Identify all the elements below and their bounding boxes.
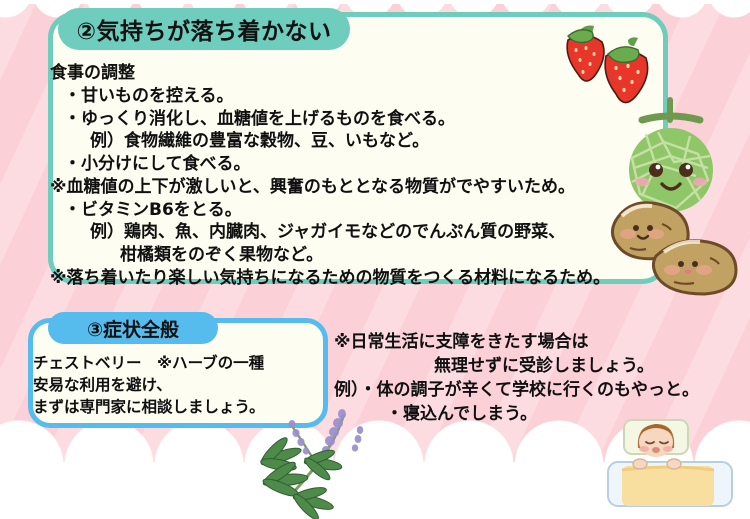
sleeping-person-illustration bbox=[600, 418, 740, 519]
strawberries-illustration bbox=[560, 14, 680, 110]
diet-line-5: ・小分けにして食べる。 bbox=[50, 153, 650, 176]
general-line-1: チェストベリー ※ハーブの一種 bbox=[33, 352, 325, 374]
diet-line-6: ※血糖値の上下が激しいと、興奮のもととなる物質がでやすいため。 bbox=[50, 176, 650, 199]
diet-line-8: 例）鶏肉、魚、内臓肉、ジャガイモなどのでんぷん質の野菜、 bbox=[50, 221, 650, 244]
section-heading-general: ③症状全般 bbox=[48, 312, 218, 344]
diet-line-4: 例）食物繊維の豊富な穀物、豆、いもなど。 bbox=[50, 130, 650, 153]
diet-line-3: ・ゆっくり消化し、血糖値を上げるものを食べる。 bbox=[50, 108, 650, 131]
diet-line-7: ・ビタミンB6をとる。 bbox=[50, 199, 650, 222]
diet-line-10: ※落ち着いたり楽しい気持ちになるための物質をつくる材料になるため。 bbox=[50, 267, 650, 290]
note-line-1: ※日常生活に支障をきたす場合は bbox=[334, 330, 750, 354]
chaste-tree-illustration bbox=[252, 408, 402, 519]
section-heading-diet: ②気持ちが落ち着かない bbox=[58, 8, 350, 50]
note-line-3: 例）・体の調子が辛くて学校に行くのもやっと。 bbox=[334, 378, 750, 402]
diet-line-9: 柑橘類をのぞく果物など。 bbox=[50, 244, 650, 267]
infographic-stage: ②気持ちが落ち着かない 食事の調整 ・甘いものを控える。 ・ゆっくり消化し、血糖… bbox=[0, 0, 750, 519]
scallop-top-fill bbox=[0, 0, 750, 4]
general-line-2: 安易な利用を避け、 bbox=[33, 374, 325, 396]
note-line-2: 無理せずに受診しましょう。 bbox=[334, 354, 750, 378]
potatoes-character-illustration bbox=[600, 186, 750, 298]
